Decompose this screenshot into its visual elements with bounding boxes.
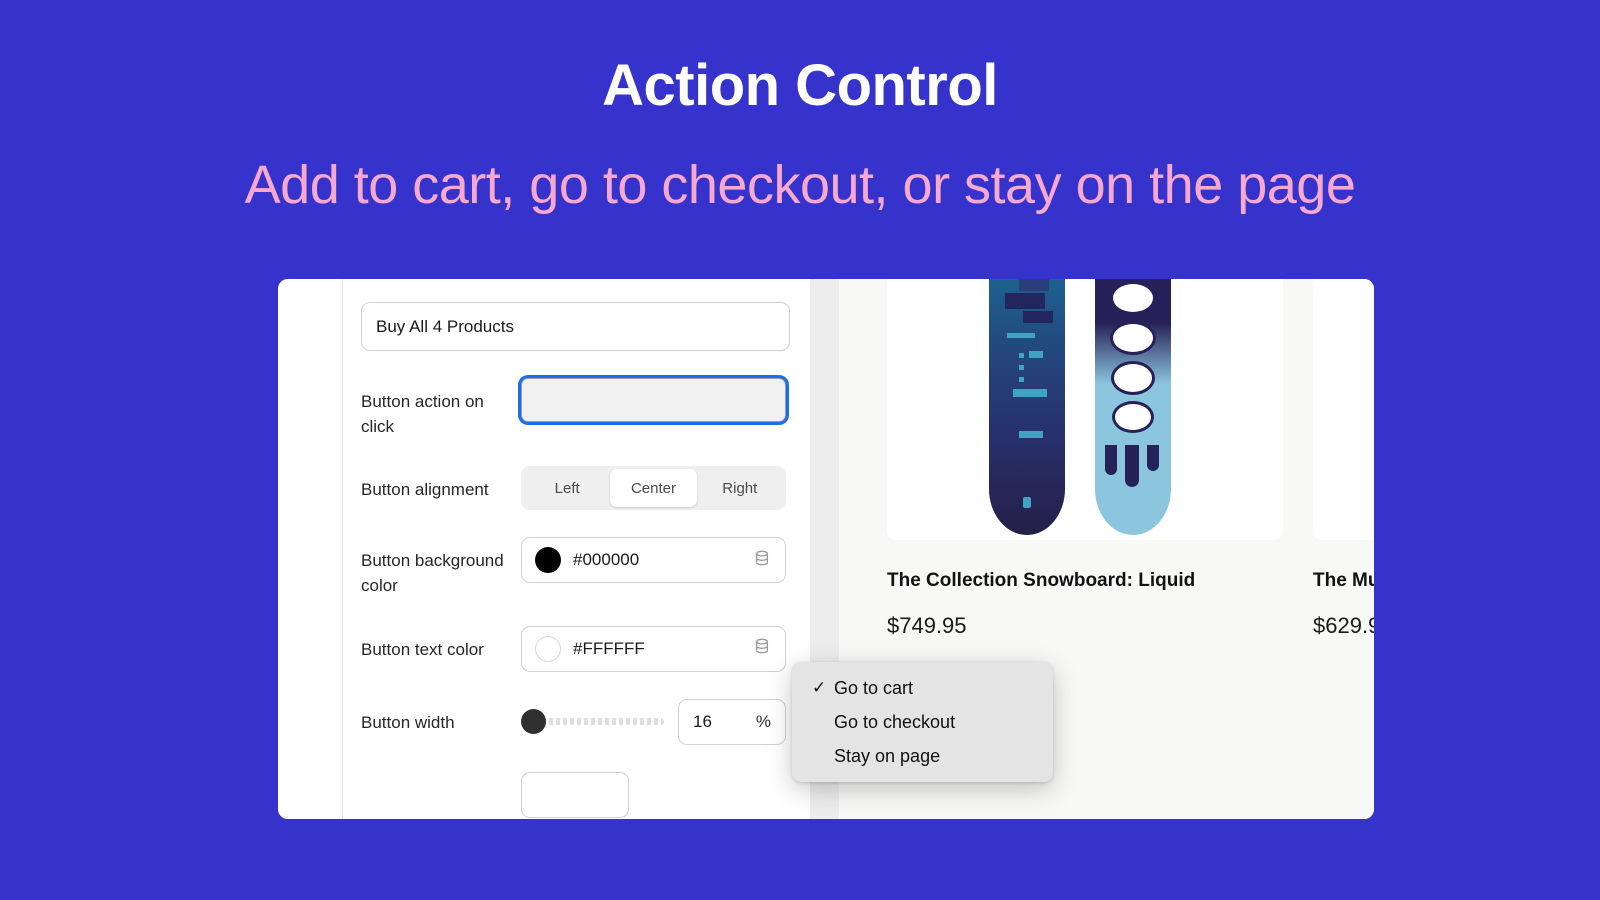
button-action-dropdown-menu[interactable]: ✓ Go to cart Go to checkout Stay on page [792, 662, 1053, 782]
button-width-unit: % [756, 712, 771, 732]
snowboard-illustration [989, 279, 1181, 540]
field-label-button-text-color: Button text color [361, 626, 521, 662]
screenshot-card: Buy All 4 Products Button action on clic… [278, 279, 1374, 819]
check-icon: ✓ [812, 678, 826, 698]
dropdown-option-label: Go to cart [834, 678, 913, 699]
button-label-input[interactable]: Buy All 4 Products [361, 302, 790, 351]
button-width-slider[interactable] [521, 715, 664, 729]
button-text-color-field[interactable]: #FFFFFF [521, 626, 786, 672]
database-icon[interactable] [752, 636, 772, 661]
button-action-select[interactable] [521, 378, 786, 422]
dropdown-option-go-to-cart[interactable]: ✓ Go to cart [792, 671, 1053, 705]
alignment-option-left[interactable]: Left [524, 469, 610, 507]
next-field-input[interactable] [521, 772, 629, 818]
snowboard-liquid [1095, 279, 1171, 535]
field-button-width: Button width 16 % [361, 699, 810, 745]
slider-knob[interactable] [521, 709, 546, 734]
product-image [1313, 279, 1374, 540]
field-button-background-color: Button background color #000000 [361, 537, 810, 598]
field-button-alignment: Button alignment Left Center Right [361, 466, 810, 510]
dropdown-option-label: Go to checkout [834, 712, 955, 733]
dropdown-option-stay-on-page[interactable]: Stay on page [792, 739, 1053, 773]
button-width-input[interactable]: 16 % [678, 699, 786, 745]
button-width-value: 16 [693, 712, 712, 732]
product-image [887, 279, 1283, 540]
field-button-action-on-click: Button action on click [361, 378, 810, 439]
button-background-color-field[interactable]: #000000 [521, 537, 786, 583]
slider-track [535, 718, 664, 725]
snowboard-forest [989, 279, 1065, 535]
settings-pane: Buy All 4 Products Button action on clic… [278, 279, 810, 819]
database-icon[interactable] [752, 548, 772, 573]
page-title: Action Control [0, 54, 1600, 118]
field-label-button-background-color: Button background color [361, 537, 521, 598]
field-label-button-alignment: Button alignment [361, 466, 521, 502]
color-swatch-text[interactable] [535, 636, 561, 662]
alignment-option-right[interactable]: Right [697, 469, 783, 507]
product-price: $749.95 [887, 613, 1283, 639]
product-price: $629.9 [1313, 613, 1374, 639]
text-color-hex: #FFFFFF [573, 639, 752, 659]
field-label-button-width: Button width [361, 699, 521, 735]
dropdown-option-label: Stay on page [834, 746, 940, 767]
field-button-text-color: Button text color #FFFFFF [361, 626, 810, 672]
button-alignment-segmented[interactable]: Left Center Right [521, 466, 786, 510]
product-title: The Mu [1313, 570, 1374, 592]
button-label-value: Buy All 4 Products [376, 317, 514, 337]
field-label-button-action: Button action on click [361, 378, 521, 439]
page-subtitle: Add to cart, go to checkout, or stay on … [0, 156, 1600, 215]
product-title: The Collection Snowboard: Liquid [887, 570, 1283, 592]
product-card[interactable]: The Mu $629.9 [1313, 279, 1374, 819]
color-swatch-background[interactable] [535, 547, 561, 573]
alignment-option-center[interactable]: Center [610, 469, 696, 507]
pane-divider [342, 279, 343, 819]
dropdown-option-go-to-checkout[interactable]: Go to checkout [792, 705, 1053, 739]
hero-header: Action Control Add to cart, go to checko… [0, 0, 1600, 215]
background-color-hex: #000000 [573, 550, 752, 570]
